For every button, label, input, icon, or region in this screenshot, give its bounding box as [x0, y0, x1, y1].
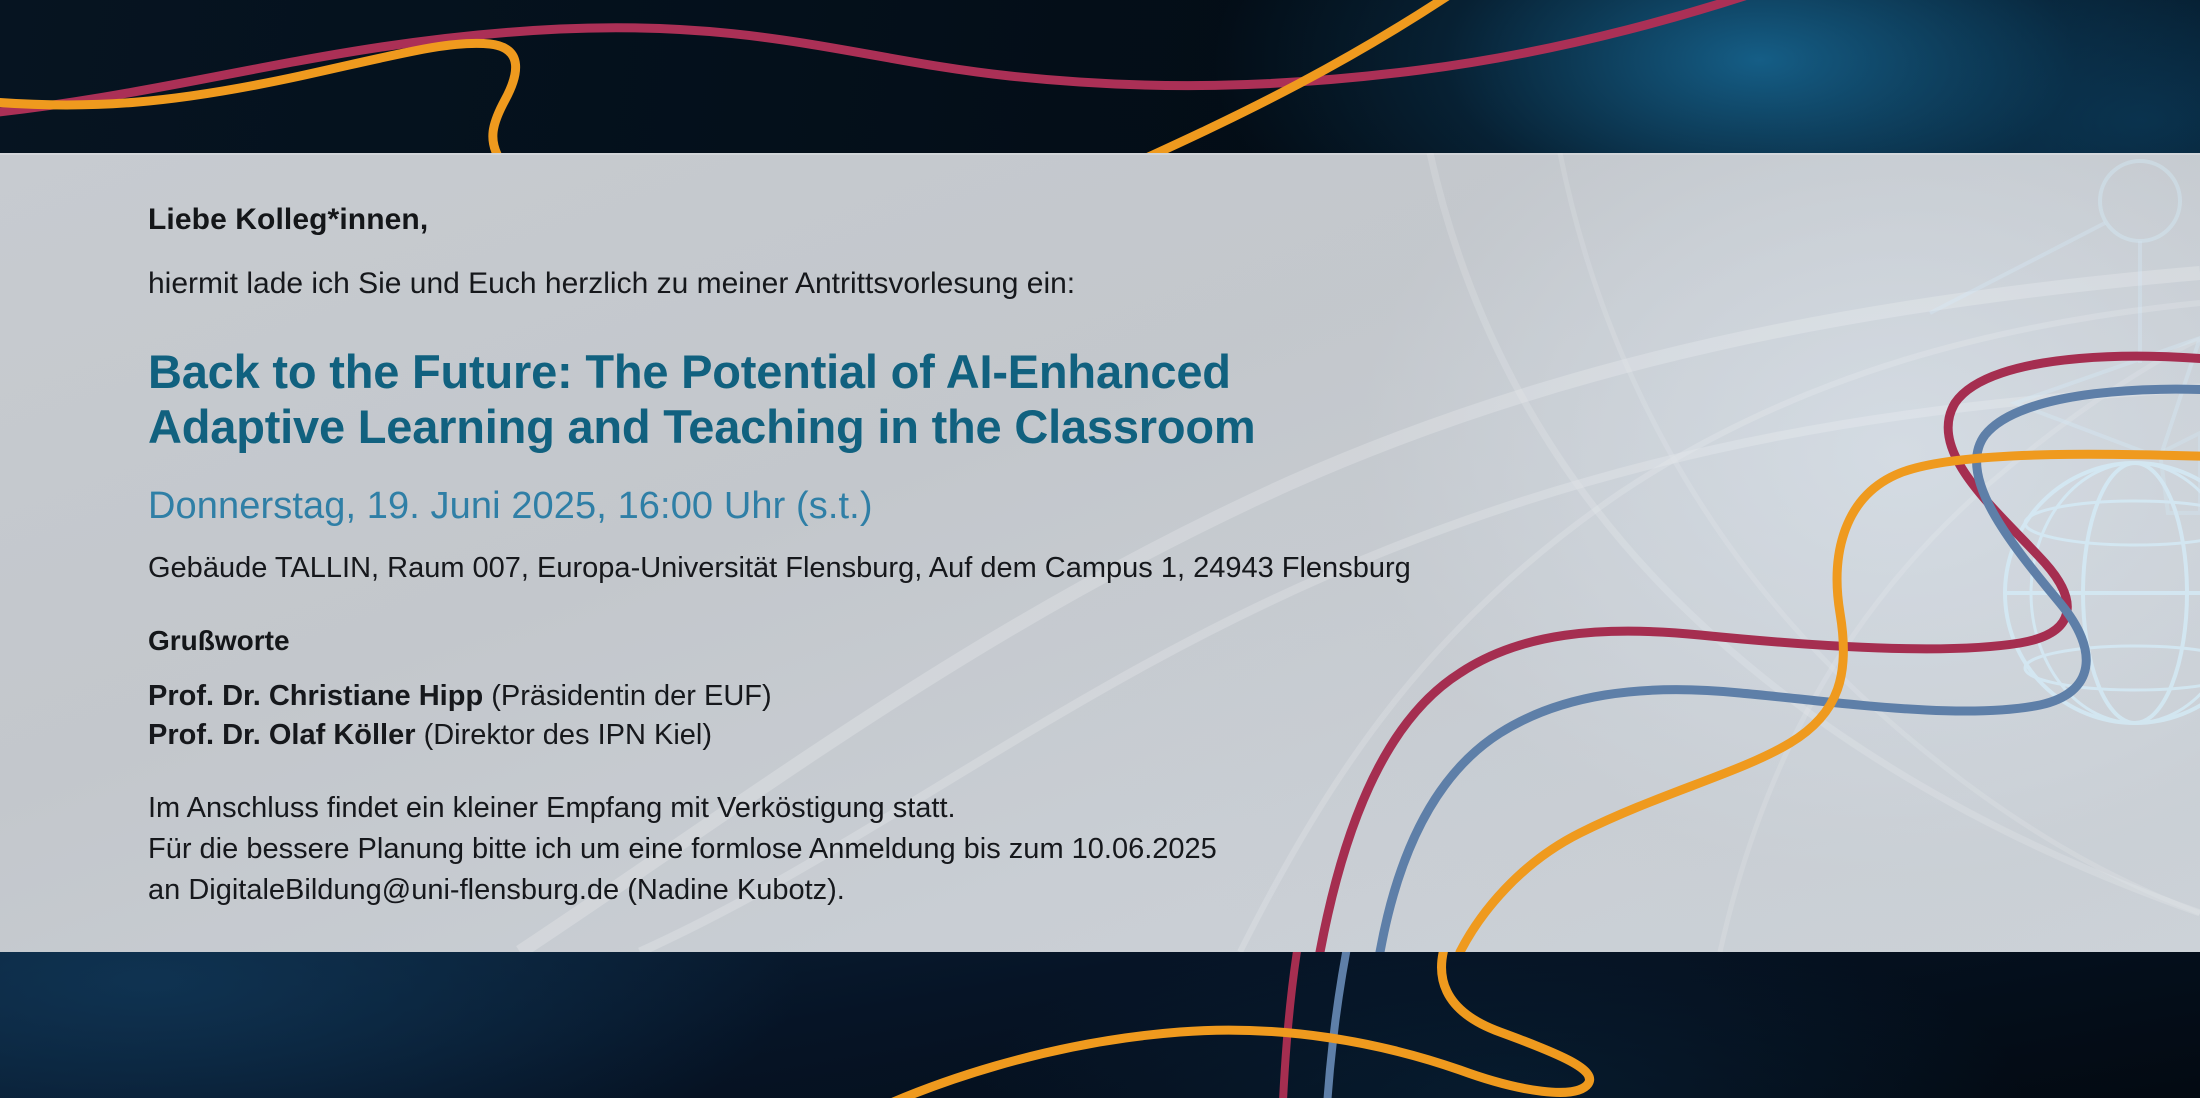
panel-edge-shape [2160, 433, 2200, 513]
greetings-heading: Grußworte [148, 625, 1848, 657]
closing-paragraph: Im Anschluss findet ein kleiner Empfang … [148, 788, 1848, 912]
closing-line: Im Anschluss findet ein kleiner Empfang … [148, 788, 1848, 829]
content-panel: Liebe Kolleg*innen, hiermit lade ich Sie… [0, 153, 2200, 952]
crimson-curve-bottom [1282, 952, 1300, 1098]
greeters-list: Prof. Dr. Christiane Hipp (Präsidentin d… [148, 677, 1848, 754]
closing-line: Für die bessere Planung bitte ich um ein… [148, 829, 1848, 870]
globe-outline-icon [2005, 463, 2200, 723]
connector-line-1 [1930, 223, 2105, 313]
globe-meridian-1 [2083, 463, 2187, 723]
steel-curve-bottom [1326, 952, 1350, 1098]
orange-diagonal-top [1120, 0, 1500, 153]
bottom-band-curves [0, 952, 2200, 1098]
greeter-name: Prof. Dr. Olaf Köller [148, 719, 416, 751]
lecture-title: Back to the Future: The Potential of AI-… [148, 345, 1438, 455]
bottom-decorative-band [0, 952, 2200, 1098]
greeter-item: Prof. Dr. Christiane Hipp (Präsidentin d… [148, 677, 1848, 716]
intro-line: hiermit lade ich Sie und Euch herzlich z… [148, 267, 1848, 301]
salutation: Liebe Kolleg*innen, [148, 203, 1848, 237]
globe-parallel-bottom [2025, 646, 2200, 690]
top-decorative-band [0, 0, 2200, 153]
greeter-role: (Direktor des IPN Kiel) [424, 719, 712, 751]
globe-parallel-top [2025, 501, 2200, 545]
closing-line: an DigitaleBildung@uni-flensburg.de (Nad… [148, 870, 1848, 911]
orange-loop-bottom [850, 952, 1590, 1098]
invitation-card: Liebe Kolleg*innen, hiermit lade ich Sie… [0, 0, 2200, 1098]
arrow-shape-icon [2015, 338, 2200, 458]
invitation-text-block: Liebe Kolleg*innen, hiermit lade ich Sie… [148, 203, 1848, 912]
node-circle-icon [2100, 161, 2180, 241]
venue-address: Gebäude TALLIN, Raum 007, Europa-Univers… [148, 552, 1848, 585]
greeter-item: Prof. Dr. Olaf Köller (Direktor des IPN … [148, 716, 1848, 755]
orange-hook-top [0, 43, 516, 153]
globe-meridian-2 [2031, 463, 2200, 723]
top-band-curves [0, 0, 2200, 153]
crimson-curve-top [0, 0, 1820, 115]
greeter-name: Prof. Dr. Christiane Hipp [148, 680, 483, 712]
greeter-role: (Präsidentin der EUF) [491, 680, 771, 712]
date-time: Donnerstag, 19. Juni 2025, 16:00 Uhr (s.… [148, 485, 1848, 528]
